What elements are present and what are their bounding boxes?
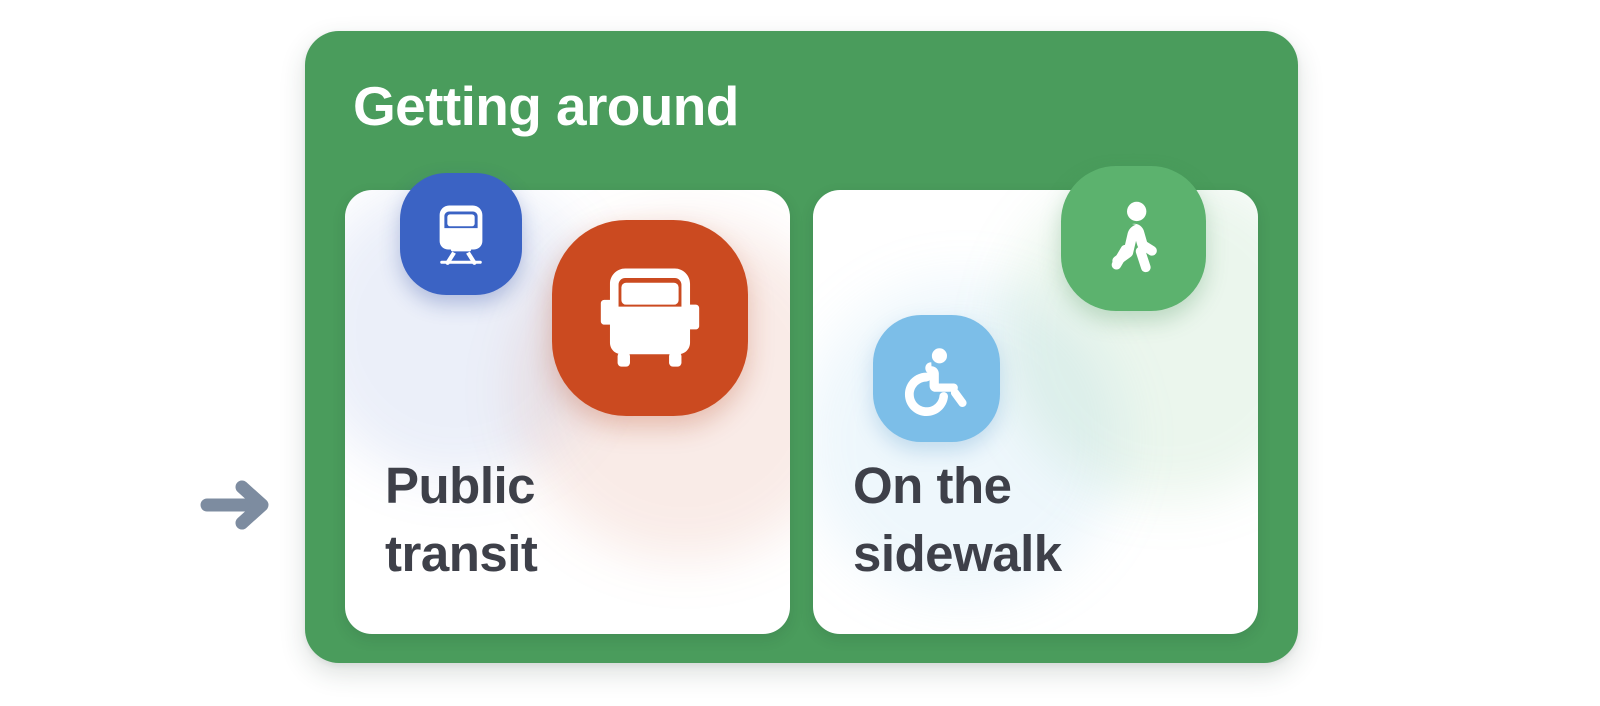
arrow-right-icon xyxy=(200,478,276,532)
page-canvas: Getting around xyxy=(0,0,1600,706)
train-icon[interactable] xyxy=(400,173,522,295)
section-title: Getting around xyxy=(353,79,739,134)
category-card-row: Public transit xyxy=(345,190,1258,634)
getting-around-section: Getting around xyxy=(305,31,1298,663)
wheelchair-icon[interactable] xyxy=(873,315,1000,442)
card-label-public-transit: Public transit xyxy=(385,452,645,588)
card-label-on-the-sidewalk: On the sidewalk xyxy=(853,452,1113,588)
walking-person-icon[interactable] xyxy=(1061,166,1206,311)
bus-icon[interactable] xyxy=(552,220,748,416)
card-on-the-sidewalk[interactable]: On the sidewalk xyxy=(813,190,1258,634)
card-public-transit[interactable]: Public transit xyxy=(345,190,790,634)
